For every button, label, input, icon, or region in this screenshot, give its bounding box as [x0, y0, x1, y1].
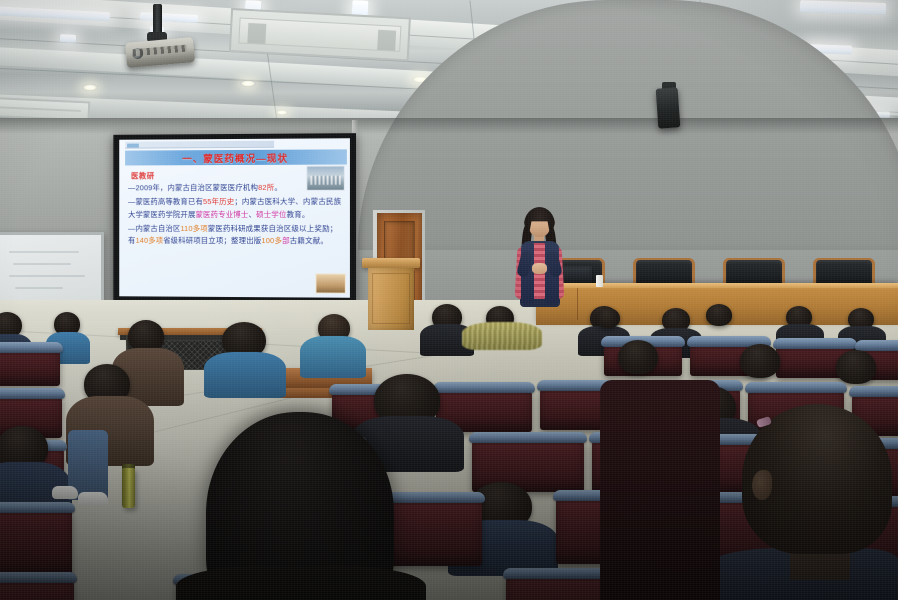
seat-rail — [0, 342, 63, 353]
foreground-right-person-ear — [752, 470, 772, 500]
auditorium-seat — [0, 576, 74, 600]
auditorium-seat — [0, 506, 72, 576]
seat-rail — [0, 572, 77, 583]
thermos-flask — [122, 468, 135, 508]
audience-head — [740, 344, 780, 378]
slide-header-strip — [125, 141, 274, 149]
lecture-hall-photo: 一、蒙医药概况—现状 医教研 —2009年，内蒙古自治区蒙医医疗机构82所。 —… — [0, 0, 898, 600]
projection-screen: 一、蒙医药概况—现状 医教研 —2009年，内蒙古自治区蒙医医疗机构82所。 —… — [113, 133, 356, 305]
audience-head — [836, 350, 876, 384]
slide-thumbnail-image-2 — [315, 273, 345, 293]
audience-head — [596, 308, 620, 328]
slide-bullet: —2009年，内蒙古自治区蒙医医疗机构82所。 — [128, 182, 344, 195]
audience-shoulders — [204, 352, 286, 398]
seat-rail — [433, 382, 535, 393]
presenter — [510, 207, 568, 312]
slide-bullet: —内蒙古自治区110多项蒙医药科研成果获自治区级以上奖励；有140多项省级科研项… — [128, 223, 344, 248]
audience-head — [618, 340, 658, 374]
seat-rail — [849, 386, 898, 397]
recessed-downlight — [82, 84, 98, 91]
foreground-seat-back — [600, 380, 720, 600]
whiteboard-writing — [15, 287, 63, 289]
ac-vane — [377, 30, 396, 51]
wall-ceiling-shadow — [0, 118, 898, 134]
audience-head — [706, 304, 732, 326]
ceiling-ac-cassette — [229, 8, 411, 61]
door-panel — [384, 221, 415, 263]
slide-title: 一、蒙医药概况—现状 — [182, 150, 288, 165]
seat-rail — [0, 502, 75, 513]
seat-rail — [0, 388, 65, 399]
slide-body: —2009年，内蒙古自治区蒙医医疗机构82所。 —蒙医药高等教育已有55年历史；… — [128, 182, 344, 248]
recessed-downlight — [240, 80, 256, 87]
presentation-slide: 一、蒙医药概况—现状 医教研 —2009年，内蒙古自治区蒙医医疗机构82所。 —… — [119, 138, 350, 298]
seat-rail — [745, 382, 847, 393]
projector-mount-pole — [153, 4, 162, 34]
head-table-edge — [536, 283, 898, 288]
whiteboard-writing — [13, 263, 71, 265]
whiteboard-writing — [9, 251, 79, 253]
ceiling-light-troffer — [60, 34, 76, 43]
audience-shoe — [78, 492, 108, 506]
projector-lens — [132, 48, 144, 60]
ac-vane — [247, 23, 266, 44]
recessed-downlight — [276, 110, 288, 115]
slide-title-bar: 一、蒙医药概况—现状 — [125, 149, 347, 165]
ac-grille — [0, 105, 81, 112]
presenter-hands — [532, 263, 547, 274]
audience-shoulders — [300, 336, 366, 378]
fur-collar — [462, 322, 542, 350]
auditorium-seat — [0, 346, 60, 386]
whiteboard-writing — [9, 275, 85, 277]
seat-rail — [773, 338, 857, 349]
foreground-person-shoulders — [176, 566, 426, 600]
slide-subtitle: 医教研 — [131, 170, 155, 181]
lectern-top — [362, 258, 420, 268]
audience-shoe — [52, 486, 78, 499]
ceiling-light-troffer — [800, 0, 886, 15]
seat-rail — [855, 340, 898, 351]
paper-cup — [596, 275, 603, 287]
seat-rail — [469, 432, 587, 443]
wall-loudspeaker-icon — [656, 87, 681, 128]
slide-bullet: —蒙医药高等教育已有55年历史；内蒙古医科大学、内蒙古民族大学蒙医药学院开展蒙医… — [128, 196, 344, 221]
